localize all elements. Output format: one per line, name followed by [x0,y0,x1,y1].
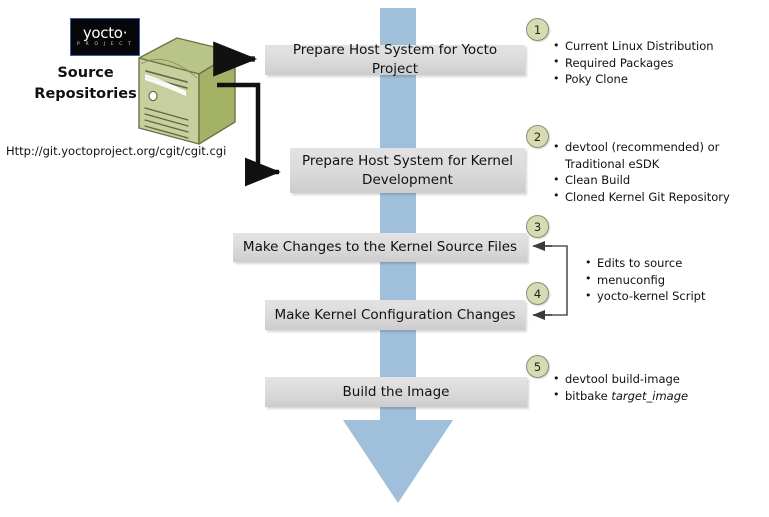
logo-wordmark: yocto· [83,26,127,41]
logo-word-text: yocto [83,24,123,42]
step-badge-4: 4 [526,282,549,305]
note-item: devtool build-image [553,371,688,388]
note-item: Poky Clone [553,71,714,88]
process-box-step5[interactable]: Build the Image [265,377,527,407]
notes-step2: devtool (recommended) or Traditional eSD… [553,139,730,205]
step-badge-2: 2 [526,125,549,148]
notes-step1: Current Linux Distribution Required Pack… [553,38,714,88]
note-item: menuconfig [585,272,706,289]
process-box-step2[interactable]: Prepare Host System for Kernel Developme… [290,148,525,193]
diagram-canvas: yocto· P R O J E C T Source Rep [0,0,769,517]
note-command-arg: target_image [611,389,688,403]
process-box-step1[interactable]: Prepare Host System for Yocto Project [265,45,525,75]
note-item: yocto-kernel Script [585,288,706,305]
logo-subtitle: P R O J E C T [77,43,133,48]
note-item: Clean Build [553,172,730,189]
note-item: devtool (recommended) or Traditional eSD… [553,139,725,172]
step-badge-1: 1 [526,18,549,41]
logo-dot: · [123,24,127,42]
note-item: bitbake target_image [553,388,688,405]
step-badge-3: 3 [526,215,549,238]
process-box-step4[interactable]: Make Kernel Configuration Changes [265,300,525,330]
note-command-prefix: bitbake [565,389,611,403]
source-repositories-label: Source Repositories [8,63,163,105]
source-label-line1: Source [8,63,163,84]
source-label-line2: Repositories [8,84,163,105]
note-item: Edits to source [585,255,706,272]
note-item: Required Packages [553,55,714,72]
process-box-step3[interactable]: Make Changes to the Kernel Source Files [233,233,527,262]
note-item: Cloned Kernel Git Repository [553,189,730,206]
step-badge-5: 5 [526,355,549,378]
notes-step3-step4: Edits to source menuconfig yocto-kernel … [585,255,706,305]
source-repository-url: Http://git.yoctoproject.org/cgit/cgit.cg… [6,144,226,158]
note-item: Current Linux Distribution [553,38,714,55]
yocto-project-logo: yocto· P R O J E C T [70,18,140,56]
notes-step5: devtool build-image bitbake target_image [553,371,688,404]
